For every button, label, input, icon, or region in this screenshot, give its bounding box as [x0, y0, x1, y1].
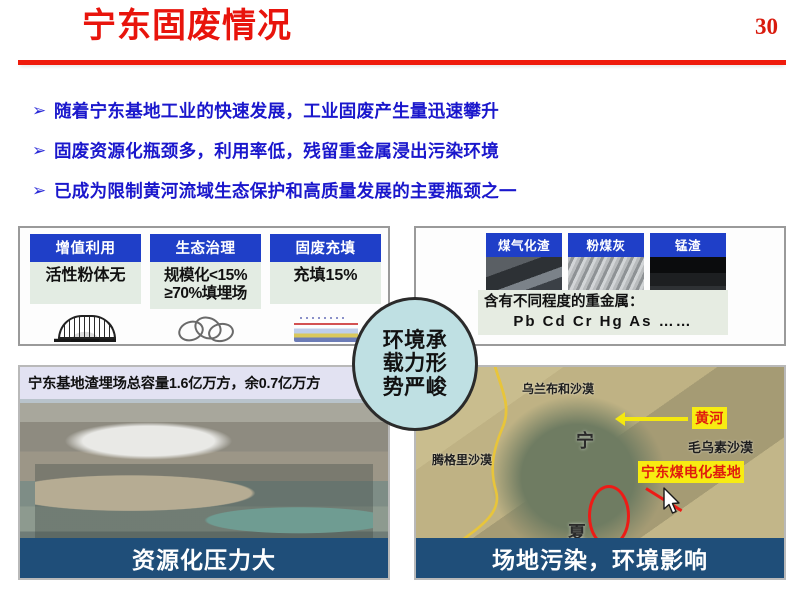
yellow-river-callout: 黄河	[692, 407, 727, 429]
route-card-backfill: 固废充填 充填15%	[270, 234, 381, 309]
slide: 宁东固废情况 30 ➢ 随着宁东基地工业的快速发展，工业固废产生量迅速攀升 ➢ …	[0, 0, 804, 603]
yellow-river-arrow-icon	[624, 417, 688, 421]
residue-thumb-label: 锰渣	[650, 233, 726, 257]
bullet-text: 已成为限制黄河流域生态保护和高质量发展的主要瓶颈之一	[54, 178, 517, 203]
heavy-metals-title: 含有不同程度的重金属：	[484, 294, 722, 311]
map-footer-label: 场地污染，环境影响	[416, 538, 784, 578]
landfill-capacity-caption: 宁东基地渣埋场总容量1.6亿万方，余0.7亿万方	[20, 367, 388, 399]
route-card-value: 活性粉体无	[30, 262, 141, 304]
heavy-metals-list: Pb Cd Cr Hg As ……	[484, 313, 722, 330]
callout-line-2: 载力形	[377, 352, 453, 376]
route-card-value: 充填15%	[270, 262, 381, 304]
province-label-ning: 宁	[576, 427, 594, 453]
route-card-ecological: 生态治理 规模化<15% ≥70%填埋场	[150, 234, 261, 309]
ningdong-coal-power-base-callout: 宁东煤电化基地	[638, 461, 744, 483]
route-card-value-line1: 规模化<15%	[152, 267, 259, 285]
heavy-metals-note: 含有不同程度的重金属： Pb Cd Cr Hg As ……	[478, 290, 728, 335]
list-item: ➢ 固废资源化瓶颈多，利用率低，残留重金属浸出污染环境	[24, 133, 764, 167]
list-item: ➢ 已成为限制黄河流域生态保护和高质量发展的主要瓶颈之一	[24, 173, 764, 207]
dome-structure-icon	[30, 312, 141, 344]
page-title: 宁东固废情况	[82, 8, 292, 45]
callout-line-3: 势严峻	[377, 376, 453, 400]
route-card-title: 固废充填	[270, 234, 381, 262]
landfill-photo-card: 宁东基地渣埋场总容量1.6亿万方，余0.7亿万方 资源化压力大	[18, 365, 390, 580]
route-card-title: 增值利用	[30, 234, 141, 262]
residue-thumb-fly-ash: 粉煤灰	[568, 233, 644, 297]
route-illustration-group	[30, 312, 382, 344]
mu-us-desert-label: 毛乌素沙漠	[688, 437, 753, 456]
list-item: ➢ 随着宁东基地工业的快速发展，工业固废产生量迅速攀升	[24, 93, 764, 127]
bullet-list: ➢ 随着宁东基地工业的快速发展，工业固废产生量迅速攀升 ➢ 固废资源化瓶颈多，利…	[24, 93, 764, 213]
residue-thumb-manganese-slag: 锰渣	[650, 233, 726, 297]
callout-line-1: 环境承	[377, 329, 453, 353]
bullet-text: 固废资源化瓶颈多，利用率低，残留重金属浸出污染环境	[54, 138, 499, 163]
tangled-rings-icon	[150, 312, 261, 344]
landfill-footer-label: 资源化压力大	[20, 538, 388, 578]
ulan-buh-desert-label: 乌兰布和沙漠	[522, 380, 594, 397]
residue-thumb-coal-gasification-slag: 煤气化渣	[486, 233, 562, 297]
mouse-pointer-icon	[662, 487, 684, 517]
arrow-bullet-icon: ➢	[24, 102, 54, 119]
page-number: 30	[755, 14, 778, 40]
residue-thumb-label: 粉煤灰	[568, 233, 644, 257]
route-card-title: 生态治理	[150, 234, 261, 262]
route-card-group: 增值利用 活性粉体无 生态治理 规模化<15% ≥70%填埋场 固废充填 充填1…	[30, 234, 382, 309]
title-divider	[18, 60, 786, 65]
route-card-value: 规模化<15% ≥70%填埋场	[150, 262, 261, 309]
route-card-value-added: 增值利用 活性粉体无	[30, 234, 141, 309]
utilization-routes-panel: 增值利用 活性粉体无 生态治理 规模化<15% ≥70%填埋场 固废充填 充填1…	[18, 226, 390, 346]
route-card-value-line2: ≥70%填埋场	[152, 285, 259, 303]
arrow-bullet-icon: ➢	[24, 182, 54, 199]
environment-capacity-callout: 环境承 载力形 势严峻	[352, 297, 478, 431]
residue-thumb-label: 煤气化渣	[486, 233, 562, 257]
callout-text: 环境承 载力形 势严峻	[377, 329, 453, 400]
arrow-bullet-icon: ➢	[24, 142, 54, 159]
residue-types-panel: 煤气化渣 粉煤灰 锰渣 含有不同程度的重金属： Pb Cd Cr Hg As ……	[414, 226, 786, 346]
tengger-desert-label: 腾格里沙漠	[432, 451, 492, 468]
residue-thumb-group: 煤气化渣 粉煤灰 锰渣	[486, 233, 726, 297]
map-photo-card: 乌兰布和沙漠 腾格里沙漠 毛乌素沙漠 宁 夏 黄河 宁东煤电化基地 场地污染，环…	[414, 365, 786, 580]
bullet-text: 随着宁东基地工业的快速发展，工业固废产生量迅速攀升	[54, 98, 499, 123]
